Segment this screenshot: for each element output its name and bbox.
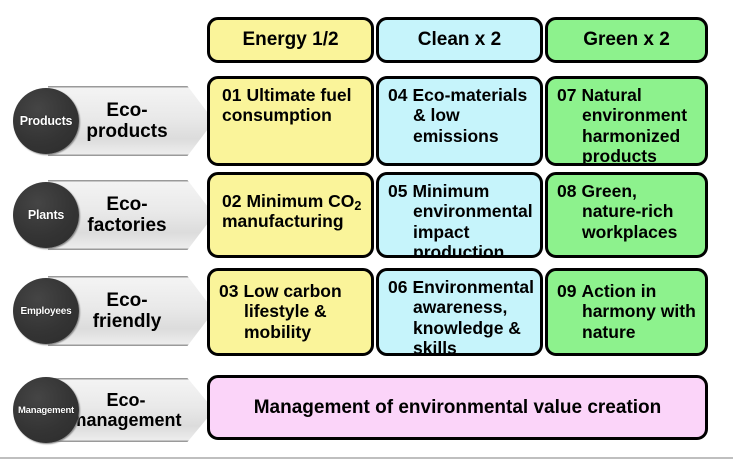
cell-01: 01Ultimate fuel consumption bbox=[207, 76, 374, 166]
cell-03-text: 03Low carbon lifestyle & mobility bbox=[210, 271, 371, 348]
cell-07: 07Natural environment harmonized product… bbox=[545, 76, 708, 166]
cell-04-label: Eco-materials & low emissions bbox=[412, 85, 527, 146]
cell-06: 06Environmental awareness, knowledge & s… bbox=[376, 268, 543, 356]
row-title-eco-friendly-line1: Eco- bbox=[106, 290, 147, 311]
column-header-clean-label: Clean x 2 bbox=[418, 29, 501, 51]
cell-07-text: 07Natural environment harmonized product… bbox=[548, 79, 705, 166]
row-title-eco-factories-line2: factories bbox=[87, 215, 166, 236]
badge-circle-management: Management bbox=[13, 377, 79, 443]
management-banner: Management of environmental value creati… bbox=[207, 375, 708, 440]
cell-02-number: 02 bbox=[222, 191, 241, 211]
cell-08-text: 08Green, nature-rich workplaces bbox=[548, 175, 705, 248]
row-label-eco-factories: Eco- factories Plants bbox=[10, 180, 206, 250]
badge-circle-products: Products bbox=[13, 88, 79, 154]
cell-09-text: 09Action in harmony with nature bbox=[548, 271, 705, 348]
cell-04-number: 04 bbox=[388, 85, 407, 105]
row-label-eco-friendly: Eco- friendly Employees bbox=[10, 276, 206, 346]
badge-circle-plants: Plants bbox=[13, 182, 79, 248]
eco-vision-matrix-diagram: Energy 1/2 Clean x 2 Green x 2 Eco- prod… bbox=[0, 0, 733, 459]
cell-07-label: Natural environment harmonized products bbox=[581, 85, 687, 166]
row-title-eco-factories-line1: Eco- bbox=[106, 194, 147, 215]
cell-09: 09Action in harmony with nature bbox=[545, 268, 708, 356]
cell-02-label: Minimum CO2 manufacturing bbox=[222, 191, 361, 231]
cell-03-number: 03 bbox=[219, 281, 238, 301]
cell-09-label: Action in harmony with nature bbox=[581, 281, 695, 342]
badge-label-management: Management bbox=[18, 405, 74, 416]
cell-03: 03Low carbon lifestyle & mobility bbox=[207, 268, 374, 356]
cell-05-number: 05 bbox=[388, 181, 407, 201]
cell-06-text: 06Environmental awareness, knowledge & s… bbox=[379, 271, 540, 356]
cell-08-label: Green, nature-rich workplaces bbox=[581, 181, 677, 242]
row-label-eco-products: Eco- products Products bbox=[10, 86, 206, 156]
row-title-eco-products-line1: Eco- bbox=[106, 100, 147, 121]
cell-06-number: 06 bbox=[388, 277, 407, 297]
cell-09-number: 09 bbox=[557, 281, 576, 301]
cell-08-number: 08 bbox=[557, 181, 576, 201]
badge-circle-employees: Employees bbox=[13, 278, 79, 344]
cell-05: 05Minimum environmental impact productio… bbox=[376, 172, 543, 258]
row-title-eco-friendly: Eco- friendly bbox=[62, 276, 192, 346]
cell-02: 02Minimum CO2 manufacturing bbox=[207, 172, 374, 258]
badge-label-plants: Plants bbox=[28, 208, 64, 222]
row-title-eco-products-line2: products bbox=[86, 121, 167, 142]
column-header-energy: Energy 1/2 bbox=[207, 17, 374, 63]
row-title-eco-management-line1: Eco- bbox=[106, 390, 145, 410]
row-title-eco-management-line2: management bbox=[70, 410, 181, 430]
cell-07-number: 07 bbox=[557, 85, 576, 105]
column-header-clean: Clean x 2 bbox=[376, 17, 543, 63]
cell-05-label: Minimum environmental impact production bbox=[412, 181, 532, 258]
cell-02-text: 02Minimum CO2 manufacturing bbox=[210, 175, 371, 238]
cell-01-text: 01Ultimate fuel consumption bbox=[210, 79, 371, 132]
cell-05-text: 05Minimum environmental impact productio… bbox=[379, 175, 540, 258]
cell-04-text: 04Eco-materials & low emissions bbox=[379, 79, 540, 152]
row-title-eco-factories: Eco- factories bbox=[62, 180, 192, 250]
management-banner-label: Management of environmental value creati… bbox=[254, 397, 662, 419]
row-title-eco-products: Eco- products bbox=[62, 86, 192, 156]
cell-01-label: Ultimate fuel consumption bbox=[222, 85, 352, 125]
cell-06-label: Environmental awareness, knowledge & ski… bbox=[412, 277, 534, 356]
column-header-green: Green x 2 bbox=[545, 17, 708, 63]
column-header-green-label: Green x 2 bbox=[583, 29, 670, 51]
column-header-energy-label: Energy 1/2 bbox=[242, 29, 338, 51]
row-title-eco-friendly-line2: friendly bbox=[93, 311, 162, 332]
cell-03-label: Low carbon lifestyle & mobility bbox=[243, 281, 341, 342]
badge-label-products: Products bbox=[20, 114, 73, 128]
cell-08: 08Green, nature-rich workplaces bbox=[545, 172, 708, 258]
badge-label-employees: Employees bbox=[20, 306, 71, 317]
cell-04: 04Eco-materials & low emissions bbox=[376, 76, 543, 166]
row-label-eco-management: Eco- management Management bbox=[10, 378, 206, 442]
cell-01-number: 01 bbox=[222, 85, 241, 105]
